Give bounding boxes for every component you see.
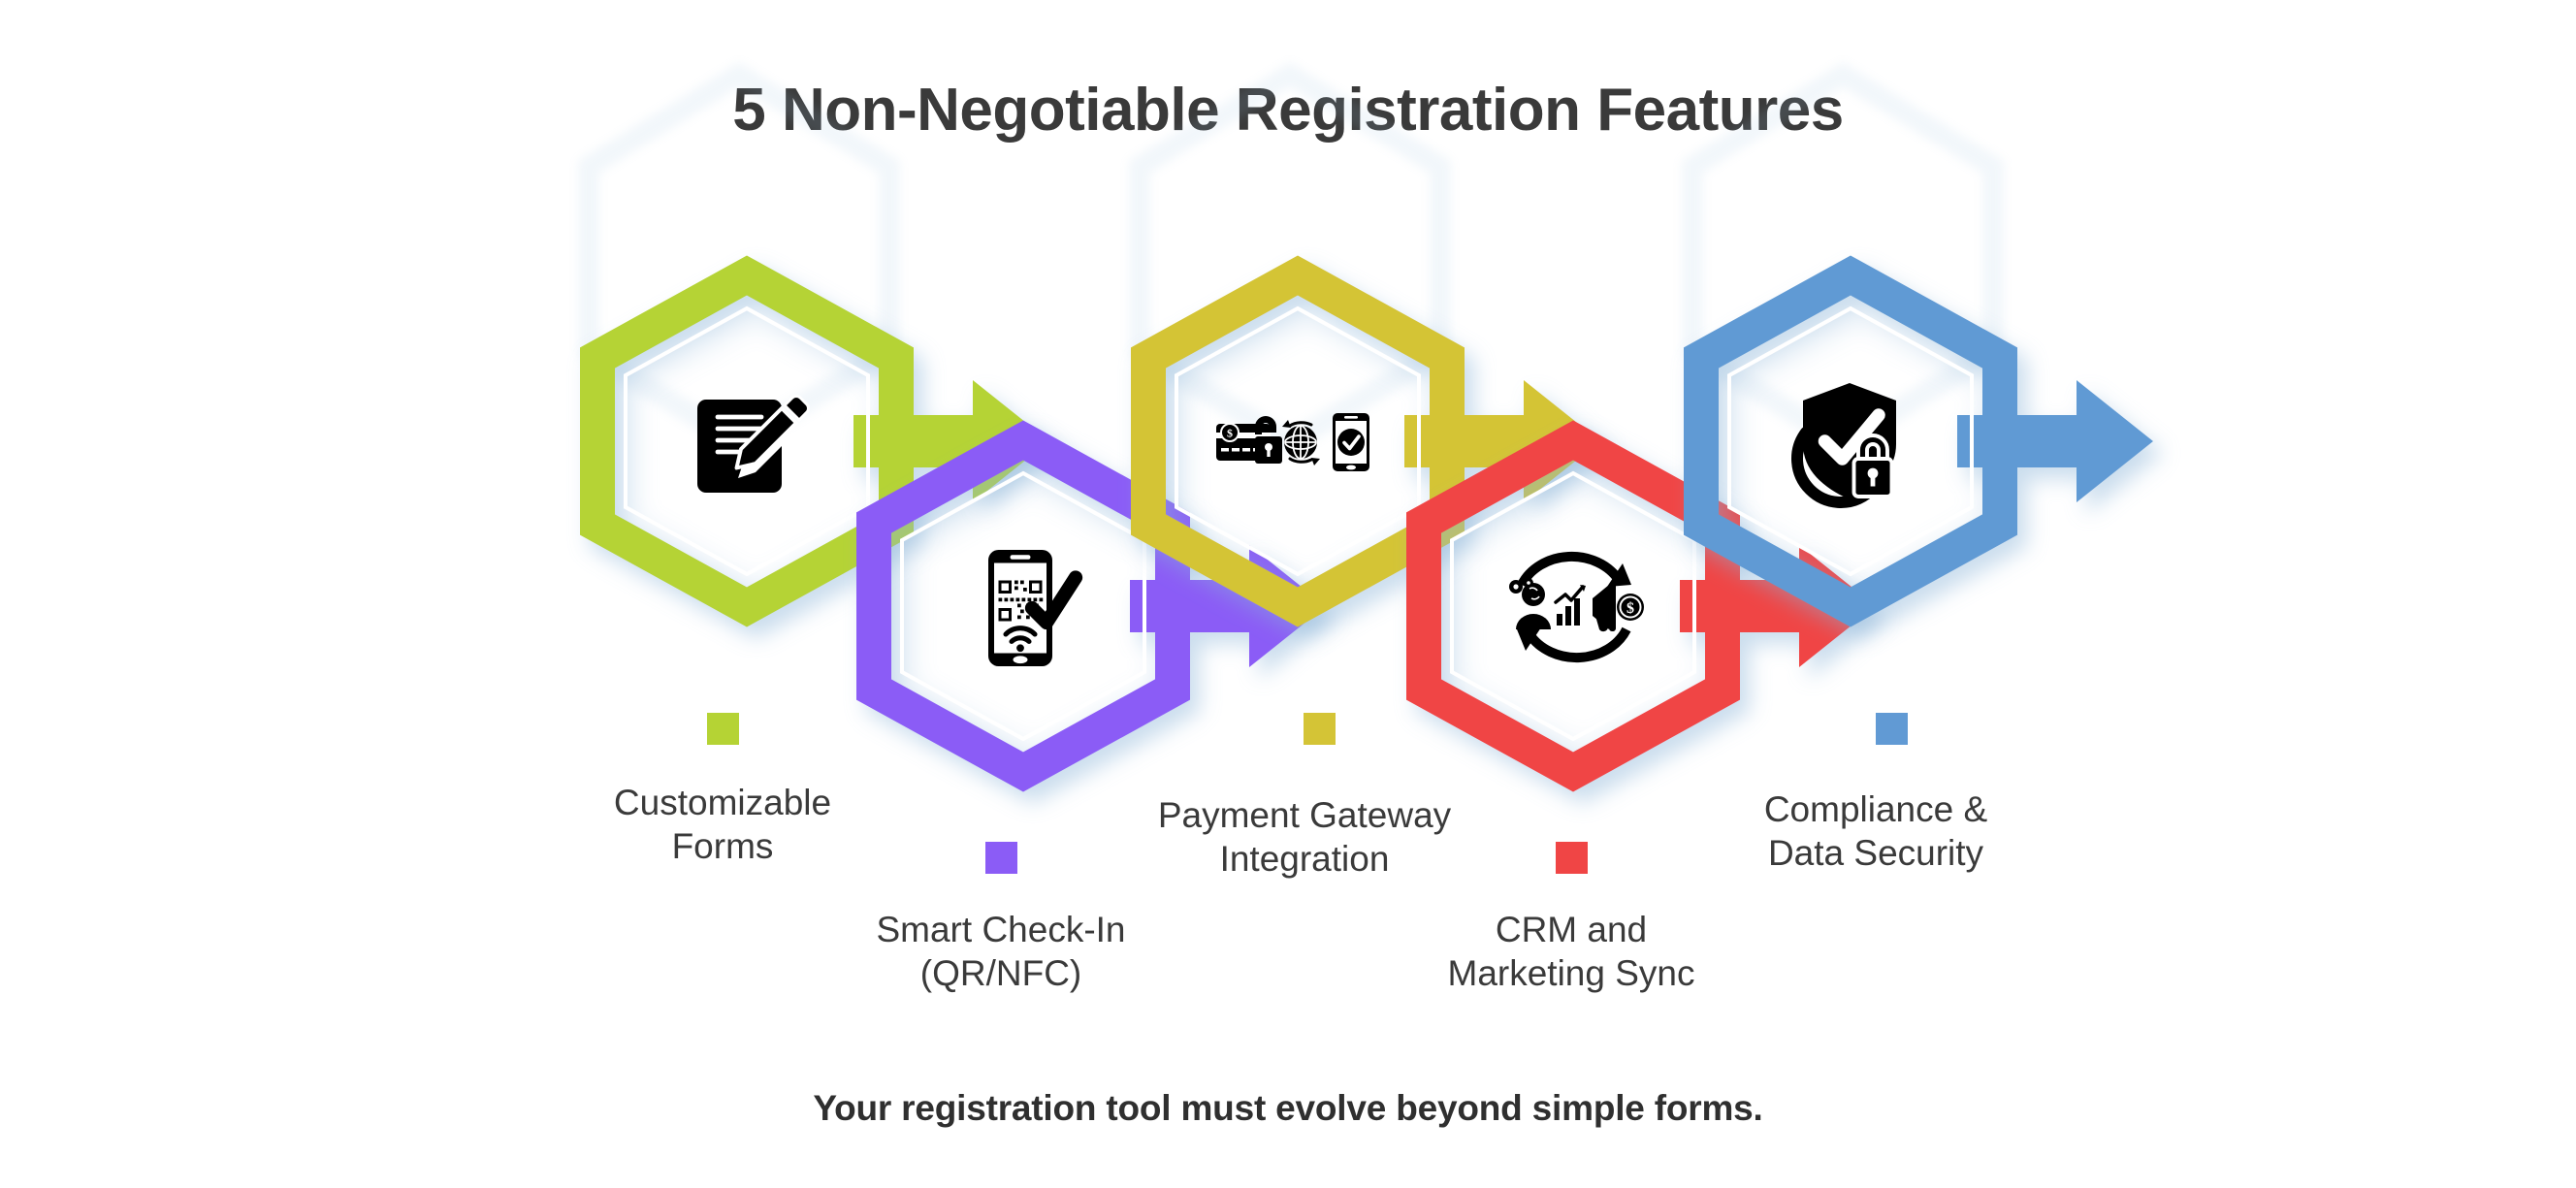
label-step-4: CRM and Marketing Sync	[1358, 908, 1785, 995]
footer-caption: Your registration tool must evolve beyon…	[0, 1088, 2576, 1129]
smartphone-qr-check-icon	[950, 535, 1096, 681]
marker-step-1	[707, 713, 739, 745]
svg-text:$: $	[1227, 427, 1233, 440]
label-step-1: Customizable Forms	[529, 781, 917, 868]
document-pencil-icon	[674, 373, 820, 519]
payment-gateway-icon: $	[1210, 383, 1385, 499]
hexagon-step-5	[1701, 275, 2153, 607]
marker-step-3	[1304, 713, 1336, 745]
label-step-2: Smart Check-In (QR/NFC)	[807, 908, 1195, 995]
crm-marketing-sync-icon: $	[1487, 529, 1661, 684]
marker-step-4	[1556, 842, 1588, 874]
marker-step-5	[1876, 713, 1908, 745]
infographic-canvas: 5 Non-Negotiable Registration Features	[0, 0, 2576, 1188]
hexagon-process-chain	[0, 0, 2576, 1188]
svg-text:$: $	[1626, 600, 1634, 617]
marker-step-2	[985, 842, 1017, 874]
shield-lock-icon	[1777, 369, 1922, 514]
label-step-3: Payment Gateway Integration	[1081, 793, 1528, 881]
label-step-5: Compliance & Data Security	[1678, 787, 2074, 875]
